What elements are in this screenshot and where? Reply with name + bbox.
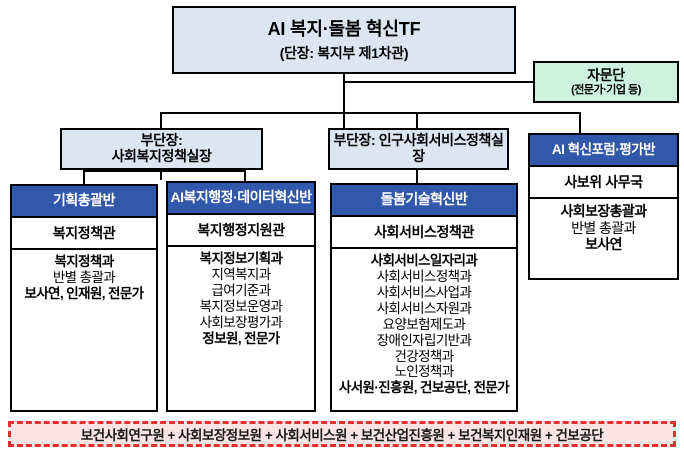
list-item: 급여기준과 — [170, 283, 312, 299]
list-item: 보사연, 인재원, 전문가 — [14, 286, 154, 302]
connector-to-advisory — [343, 81, 535, 83]
tf-root-box: AI 복지·돌봄 혁신TF (단장: 복지부 제1차관) — [172, 6, 516, 74]
column-1-header: 기획총괄반 — [12, 186, 156, 216]
column-2-subhead: 복지행정지원관 — [168, 213, 314, 247]
list-item: 보사연 — [532, 236, 675, 253]
list-item: 노인정책과 — [334, 364, 514, 380]
partner-institutions-text: 보건사회연구원 + 사회보장정보원 + 사회서비스원 + 보건산업진흥원 + 보… — [81, 424, 603, 444]
column-4-subhead: 사보위 사무국 — [530, 165, 677, 199]
column-planning-general: 기획총괄반 복지정책관 복지정책과 반별 총괄과 보사연, 인재원, 전문가 — [10, 184, 158, 412]
column-2-body: 복지정보기획과 지역복지과 급여기준과 복지정보운영과 사회보장평가과 정보원,… — [168, 247, 314, 410]
column-3-subhead: 사회서비스정책관 — [332, 215, 516, 249]
connector-deputy-bus — [160, 112, 580, 114]
column-4-header: AI 혁신포럼·평가반 — [530, 135, 677, 165]
deputy-1-line-1: 부단장: — [141, 133, 183, 149]
list-item: 정보원, 전문가 — [170, 331, 312, 347]
list-item: 반별 총괄과 — [532, 220, 675, 237]
tf-title: AI 복지·돌봄 혁신TF — [268, 19, 421, 39]
column-ai-innovation-forum-evaluation: AI 혁신포럼·평가반 사보위 사무국 사회보장총괄과 반별 총괄과 보사연 — [528, 133, 679, 280]
list-item: 반별 총괄과 — [14, 270, 154, 286]
advisory-box: 자문단 (전문가·기업 등) — [533, 61, 679, 103]
partner-institutions-banner: 보건사회연구원 + 사회보장정보원 + 사회서비스원 + 보건산업진흥원 + 보… — [8, 421, 676, 447]
column-3-header: 돌봄기술혁신반 — [332, 185, 516, 215]
deputy-director-population-box: 부단장: 인구사회서비스정책실장 — [328, 128, 509, 170]
column-2-header: AI복지행정·데이터혁신반 — [168, 183, 314, 213]
list-item: 요양보험제도과 — [334, 317, 514, 333]
tf-subtitle: (단장: 복지부 제1차관) — [280, 46, 408, 62]
list-item: 건강정책과 — [334, 349, 514, 365]
column-4-body: 사회보장총괄과 반별 총괄과 보사연 — [530, 199, 677, 278]
list-item: 사회서비스자원과 — [334, 301, 514, 317]
advisory-title: 자문단 — [587, 68, 625, 84]
column-care-tech-innovation: 돌봄기술혁신반 사회서비스정책관 사회서비스일자리과 사회서비스정책과 사회서비… — [330, 183, 518, 412]
list-item: 장애인자립기반과 — [334, 333, 514, 349]
list-item: 사서원·진흥원, 건보공단, 전문가 — [334, 380, 514, 396]
org-chart: AI 복지·돌봄 혁신TF (단장: 복지부 제1차관) 자문단 (전문가·기업… — [0, 0, 684, 454]
advisory-subtitle: (전문가·기업 등) — [571, 84, 641, 96]
list-item: 지역복지과 — [170, 267, 312, 283]
list-item: 사회보장평가과 — [170, 315, 312, 331]
deputy-1-line-2: 사회복지정책실장 — [112, 149, 212, 165]
list-item: 사회서비스일자리과 — [334, 253, 514, 269]
list-item: 사회보장총괄과 — [532, 203, 675, 220]
list-item: 사회서비스정책과 — [334, 269, 514, 285]
column-3-body: 사회서비스일자리과 사회서비스정책과 사회서비스사업과 사회서비스자원과 요양보… — [332, 249, 516, 410]
column-1-body: 복지정책과 반별 총괄과 보사연, 인재원, 전문가 — [12, 250, 156, 410]
connector-deputy-1-bus — [83, 170, 246, 172]
column-1-subhead: 복지정책관 — [12, 216, 156, 250]
column-ai-welfare-admin-data: AI복지행정·데이터혁신반 복지행정지원관 복지정보기획과 지역복지과 급여기준… — [166, 181, 316, 412]
connector-forum-drop — [579, 112, 581, 135]
deputy-2-text: 부단장: 인구사회서비스정책실장 — [333, 133, 504, 164]
deputy-director-welfare-box: 부단장: 사회복지정책실장 — [60, 128, 263, 170]
list-item: 복지정보운영과 — [170, 299, 312, 315]
list-item: 사회서비스사업과 — [334, 285, 514, 301]
list-item: 복지정책과 — [14, 254, 154, 270]
list-item: 복지정보기획과 — [170, 251, 312, 267]
